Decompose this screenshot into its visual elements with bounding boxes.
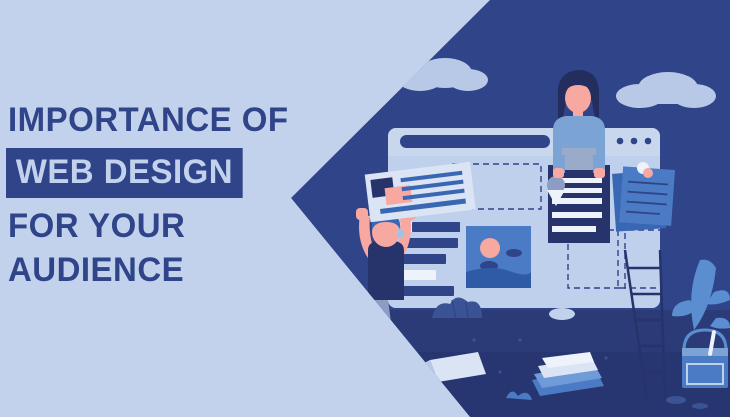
text-bar — [412, 222, 460, 232]
text-bar — [400, 270, 436, 280]
shirt — [368, 240, 404, 300]
cloud-icon — [506, 249, 522, 257]
lap — [562, 148, 596, 170]
address-bar — [400, 135, 550, 148]
figure-woman-sitting — [553, 70, 605, 178]
headline-line-3: FOR YOUR — [8, 204, 309, 248]
hand-left — [553, 168, 564, 178]
sun-icon — [480, 238, 500, 258]
window-dot-icon — [617, 138, 624, 145]
pin-icon — [643, 168, 653, 178]
text-bar — [400, 254, 446, 264]
puddle — [666, 396, 686, 404]
headline-block: IMPORTANCE OF WEB DESIGN FOR YOUR AUDIEN… — [8, 98, 318, 292]
speck — [498, 370, 501, 373]
window-dot-icon — [645, 138, 652, 145]
hand-right — [594, 168, 605, 178]
banner-canvas: IMPORTANCE OF WEB DESIGN FOR YOUR AUDIEN… — [0, 0, 730, 417]
text-bar — [400, 286, 454, 296]
window-dot-icon — [631, 138, 638, 145]
headline-line-2: WEB DESIGN — [6, 148, 243, 198]
hand-left — [356, 208, 368, 220]
speck — [604, 356, 607, 359]
rock-icon — [549, 308, 575, 320]
photo-placeholder — [466, 226, 531, 288]
headline-line-4: AUDIENCE — [8, 248, 309, 292]
puddle — [692, 403, 708, 409]
speck — [472, 338, 475, 341]
headline-line-1: IMPORTANCE OF — [8, 98, 309, 142]
speck — [518, 338, 521, 341]
